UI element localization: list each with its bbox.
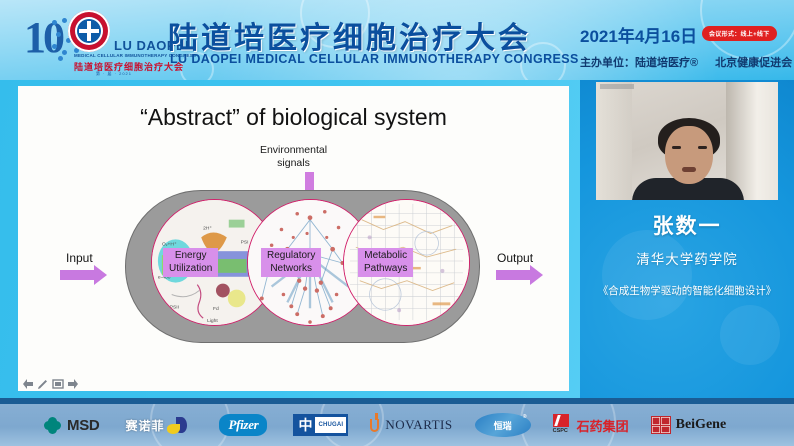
congress-date: 2021年4月16日 [580,22,697,47]
svg-text:Fd: Fd [213,306,219,312]
msd-logo-icon [44,417,61,434]
speaker-eye-left [672,146,681,149]
input-arrow [60,270,96,280]
output-arrow [496,270,532,280]
circle-label-energy-utilization: Energy Utilization [163,248,218,277]
sponsor-msd[interactable]: MSD [44,404,99,446]
speaker-affiliation: 清华大学药学院 [580,248,794,268]
hengrui-logo-icon: 恒瑞 ® [475,413,531,437]
video-background-left [596,82,632,200]
conference-logo: 10 LU DAOPEI MEDICAL CELLULAR IMMUNOTHER… [24,8,164,74]
sponsor-chugai[interactable]: 中 CHUGAI [293,404,348,446]
sponsor-cspc-label: 石药集团 [577,416,629,435]
sponsor-sanofi-label: 赛诺菲 [125,417,164,434]
slide-control-bar[interactable] [22,378,79,390]
chugai-logo-icon: 中 CHUGAI [293,414,348,436]
input-label: Input [66,251,93,265]
broadcast-screen: 10 LU DAOPEI MEDICAL CELLULAR IMMUNOTHER… [0,0,794,446]
svg-text:O₂+H⁺: O₂+H⁺ [162,241,177,247]
chugai-mark-glyph: 中 [295,416,315,434]
circle-label-metabolic-pathways: Metabolic Pathways [358,248,413,277]
label-line2: Pathways [364,263,407,276]
sponsor-cspc[interactable]: CSPC 石药集团 [553,404,629,446]
speaker-topic: 《合成生物学驱动的智能化细胞设计》 [580,283,794,298]
speaker-mouth [682,167,696,172]
next-slide-arrow-icon[interactable] [67,378,79,390]
congress-title-chinese: 陆道培医疗细胞治疗大会 [168,13,531,57]
pen-annotate-icon[interactable] [37,378,49,390]
sponsor-novartis-label: NOVARTIS [385,417,452,433]
svg-text:Light: Light [207,318,218,324]
beigene-seal-icon [651,416,671,434]
sponsor-pfizer-label: Pfizer [219,414,267,436]
env-label-line2: signals [18,157,569,170]
organizer-line: 主办单位：陆道培医疗® 北京健康促进会 [580,54,792,70]
label-line2: Networks [267,263,315,276]
prev-slide-arrow-icon[interactable] [22,378,34,390]
speaker-video-feed[interactable] [596,82,778,200]
sponsor-beigene[interactable]: BeiGene [651,404,727,446]
conference-header-banner: 10 LU DAOPEI MEDICAL CELLULAR IMMUNOTHER… [0,0,794,80]
output-label: Output [497,251,533,265]
svg-text:2H⁺: 2H⁺ [203,226,212,232]
meeting-format-badge: 会议形式：线上+线下 [702,26,777,41]
sponsor-logo-row: MSD 赛诺菲 Pfizer 中 CHUGAI NOVARTIS [0,404,794,446]
sponsor-hengrui-label: 恒瑞 [494,419,512,432]
logo-medical-cross-seal [68,10,110,52]
sponsor-beigene-label: BeiGene [676,417,727,433]
presentation-slide[interactable]: “Abstract” of biological system Environm… [18,86,569,391]
svg-text:PSII: PSII [170,304,179,310]
slide-view-icon[interactable] [52,378,64,390]
sponsor-cspc-abbr: CSPC [553,428,568,434]
label-line1: Metabolic [364,250,407,263]
hengrui-registered-mark: ® [523,414,527,420]
sponsor-chugai-label: CHUGAI [315,417,346,433]
speaker-name: 张数一 [580,210,794,240]
novartis-logo-icon [368,416,381,434]
organizer-secondary: 北京健康促进会 [715,57,792,69]
decorative-bubble [720,305,780,365]
label-line2: Utilization [169,263,212,276]
speaker-panel: 张数一 清华大学药学院 《合成生物学驱动的智能化细胞设计》 [580,80,794,398]
logo-year: 第 · 届 · 2021 [96,71,132,77]
decorative-bubble [602,230,692,320]
organizer-primary: 主办单位：陆道培医疗® [580,57,698,69]
cspc-logo-icon: CSPC [553,414,573,436]
congress-title-english: LU DAOPEI MEDICAL CELLULAR IMMUNOTHERAPY… [170,52,579,66]
sponsor-sanofi[interactable]: 赛诺菲 [125,404,189,446]
video-overlay-label [600,84,634,89]
sponsor-msd-label: MSD [67,417,99,434]
sanofi-logo-icon [167,417,189,434]
slide-title: “Abstract” of biological system [18,104,569,131]
circle-label-regulatory-networks: Regulatory Networks [261,248,321,277]
sponsor-pfizer[interactable]: Pfizer [219,404,267,446]
label-line1: Regulatory [267,250,315,263]
speaker-eye-right [698,146,707,149]
env-label-line1: Environmental [18,144,569,157]
label-line1: Energy [169,250,212,263]
speaker-face [665,126,713,184]
sponsor-novartis[interactable]: NOVARTIS [368,404,452,446]
sponsor-hengrui[interactable]: 恒瑞 ® [475,404,531,446]
environmental-signals-label: Environmental signals [18,144,569,170]
sponsor-bar: MSD 赛诺菲 Pfizer 中 CHUGAI NOVARTIS [0,404,794,446]
